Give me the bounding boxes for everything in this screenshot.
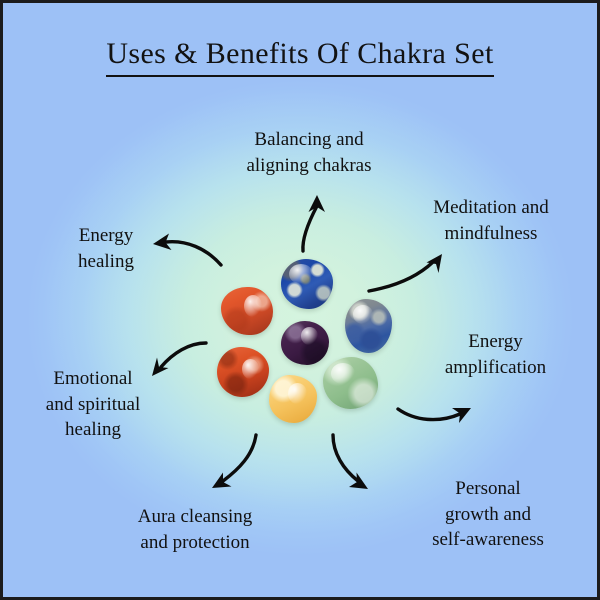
green-aventurine-stone bbox=[323, 357, 378, 409]
chakra-benefits-poster: Uses & Benefits Of Chakra Set Balancing … bbox=[0, 0, 600, 600]
lapis-lazuli-stone bbox=[281, 259, 333, 309]
arrow-right-icon bbox=[398, 408, 471, 423]
chakra-stone-cluster bbox=[203, 253, 403, 435]
benefit-label-emotional: Emotional and spiritual healing bbox=[13, 366, 173, 443]
stone-highlight bbox=[242, 359, 259, 379]
benefit-label-meditation: Meditation and mindfulness bbox=[396, 195, 586, 246]
benefit-label-amplify: Energy amplification bbox=[403, 329, 588, 380]
sodalite-stone bbox=[345, 299, 392, 353]
benefit-label-growth: Personal growth and self-awareness bbox=[393, 476, 583, 553]
stone-highlight bbox=[289, 264, 313, 284]
red-jasper-stone bbox=[217, 347, 269, 397]
stone-highlight bbox=[331, 363, 355, 384]
benefit-label-balancing: Balancing and aligning chakras bbox=[209, 127, 409, 178]
stone-highlight bbox=[288, 383, 307, 404]
arrow-top-icon bbox=[303, 195, 325, 251]
arrow-bottom-left-icon bbox=[212, 435, 256, 488]
stone-highlight bbox=[353, 305, 373, 323]
stone-highlight bbox=[244, 295, 262, 317]
stone-highlight bbox=[301, 327, 318, 345]
title-container: Uses & Benefits Of Chakra Set bbox=[3, 37, 597, 77]
benefit-label-energy: Energy healing bbox=[36, 223, 176, 274]
benefit-label-aura: Aura cleansing and protection bbox=[95, 504, 295, 555]
carnelian-stone bbox=[221, 287, 273, 335]
page-title: Uses & Benefits Of Chakra Set bbox=[106, 37, 493, 77]
amethyst-stone bbox=[281, 321, 329, 365]
arrow-bottom-right-icon bbox=[333, 435, 368, 489]
yellow-calcite-stone bbox=[269, 375, 317, 423]
